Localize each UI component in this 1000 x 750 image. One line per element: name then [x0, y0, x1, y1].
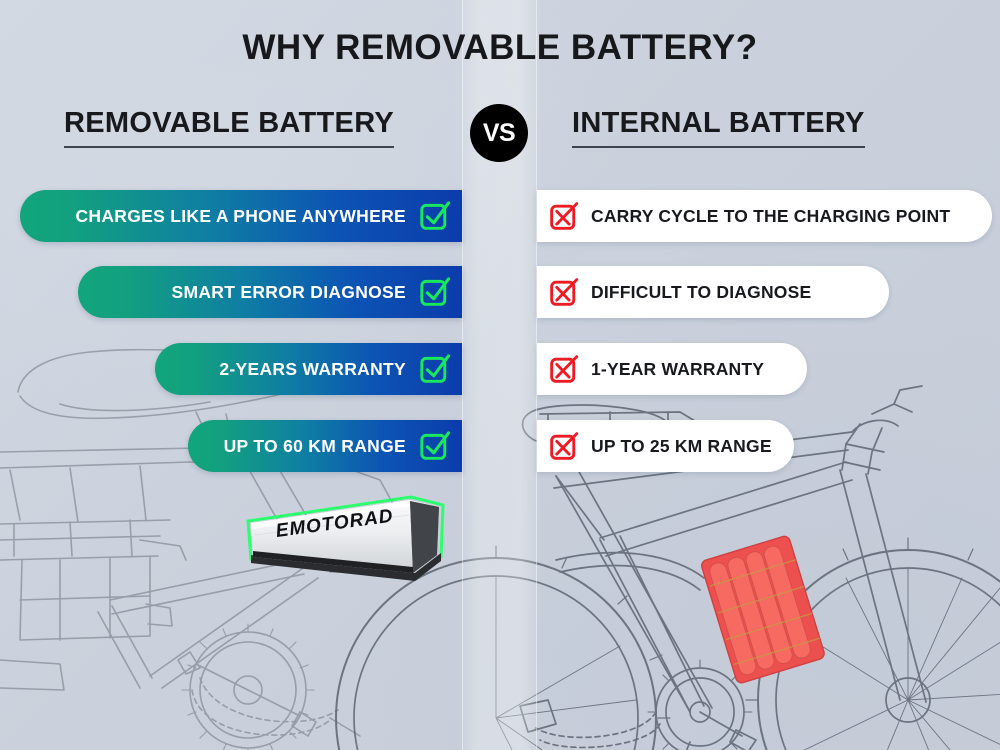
drawback-label: 1-YEAR WARRANTY — [591, 359, 764, 380]
benefit-row-1[interactable]: CHARGES LIKE A PHONE ANYWHERE — [20, 190, 462, 242]
benefit-label: 2-YEARS WARRANTY — [219, 359, 406, 380]
benefit-row-2[interactable]: SMART ERROR DIAGNOSE — [78, 266, 462, 318]
checkbox-cross-icon — [547, 429, 581, 463]
infographic-canvas: WHY REMOVABLE BATTERY? REMOVABLE BATTERY… — [0, 0, 1000, 750]
checkbox-check-icon — [418, 352, 452, 386]
drawback-label: DIFFICULT TO DIAGNOSE — [591, 282, 811, 303]
internal-battery-cells — [700, 535, 825, 684]
checkbox-cross-icon — [547, 275, 581, 309]
benefit-label: CHARGES LIKE A PHONE ANYWHERE — [75, 206, 406, 227]
page-title: WHY REMOVABLE BATTERY? — [0, 28, 1000, 68]
vs-badge-label: VS — [483, 119, 515, 148]
drawback-label: UP TO 25 KM RANGE — [591, 436, 772, 457]
checkbox-cross-icon — [547, 199, 581, 233]
drawback-row-4[interactable]: UP TO 25 KM RANGE — [537, 420, 794, 472]
removable-battery-pack — [243, 495, 448, 587]
drawback-row-3[interactable]: 1-YEAR WARRANTY — [537, 343, 807, 395]
drawback-label: CARRY CYCLE TO THE CHARGING POINT — [591, 206, 950, 227]
checkbox-check-icon — [418, 275, 452, 309]
checkbox-cross-icon — [547, 352, 581, 386]
right-column-heading: INTERNAL BATTERY — [572, 107, 865, 148]
vs-badge: VS — [470, 104, 528, 162]
benefit-row-4[interactable]: UP TO 60 KM RANGE — [188, 420, 462, 472]
benefit-label: UP TO 60 KM RANGE — [224, 436, 406, 457]
benefit-row-3[interactable]: 2-YEARS WARRANTY — [155, 343, 462, 395]
checkbox-check-icon — [418, 199, 452, 233]
benefit-label: SMART ERROR DIAGNOSE — [172, 282, 406, 303]
left-column-heading: REMOVABLE BATTERY — [64, 107, 394, 148]
divider-edge-left — [462, 0, 463, 750]
drawback-row-1[interactable]: CARRY CYCLE TO THE CHARGING POINT — [537, 190, 992, 242]
drawback-row-2[interactable]: DIFFICULT TO DIAGNOSE — [537, 266, 889, 318]
checkbox-check-icon — [418, 429, 452, 463]
